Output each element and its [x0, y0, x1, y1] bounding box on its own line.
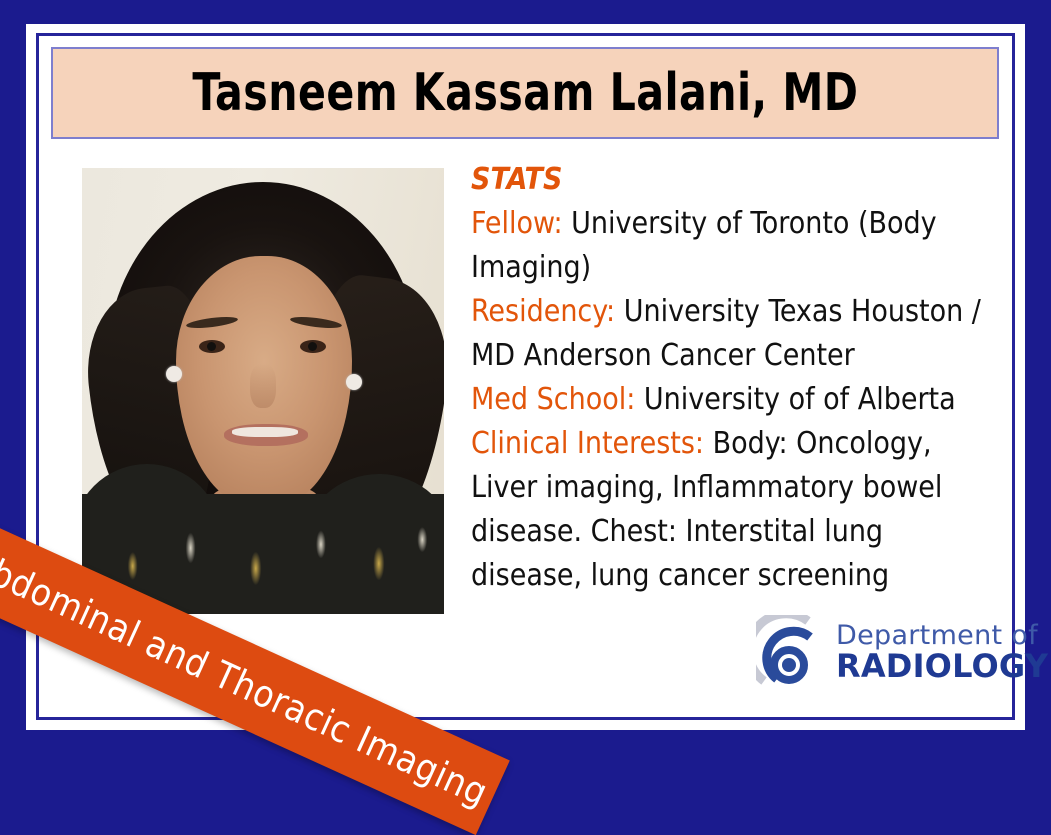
- portrait-photo: [82, 168, 444, 614]
- earring-right: [346, 374, 362, 390]
- stat-row-med-school: Med School: University of of Alberta: [471, 378, 991, 422]
- page-title: Tasneem Kassam Lalani, MD: [192, 63, 858, 123]
- eye-right: [300, 340, 326, 353]
- teeth-shape: [232, 427, 298, 437]
- logo-radiology-text: RADIOLOGY: [836, 650, 1048, 682]
- stat-row-residency: Residency: University Texas Houston / MD…: [471, 290, 991, 378]
- name-title-banner: Tasneem Kassam Lalani, MD: [51, 47, 999, 139]
- stat-label-residency: Residency:: [471, 294, 615, 329]
- logo-wordmark: Department of RADIOLOGY: [836, 622, 1048, 682]
- stats-section: STATS Fellow: University of Toronto (Bod…: [471, 160, 991, 598]
- stat-row-clinical-interests: Clinical Interests: Body: Oncology, Live…: [471, 422, 991, 598]
- stat-label-med-school: Med School:: [471, 382, 635, 417]
- stat-value-med-school: University of of Alberta: [635, 382, 955, 417]
- stats-heading: STATS: [471, 160, 991, 200]
- portrait-image: [82, 168, 444, 614]
- earring-left: [166, 366, 182, 382]
- nose-shape: [250, 364, 276, 408]
- radiology-signal-icon: [756, 615, 834, 689]
- eye-left: [199, 340, 225, 353]
- stat-label-fellow: Fellow:: [471, 206, 563, 241]
- department-radiology-logo: Department of RADIOLOGY: [756, 612, 996, 692]
- faculty-profile-card: Tasneem Kassam Lalani, MD STATS Fe: [0, 0, 1051, 754]
- stat-row-fellow: Fellow: University of Toronto (Body Imag…: [471, 202, 991, 290]
- logo-department-text: Department of: [836, 622, 1048, 649]
- stat-label-clinical-interests: Clinical Interests:: [471, 426, 704, 461]
